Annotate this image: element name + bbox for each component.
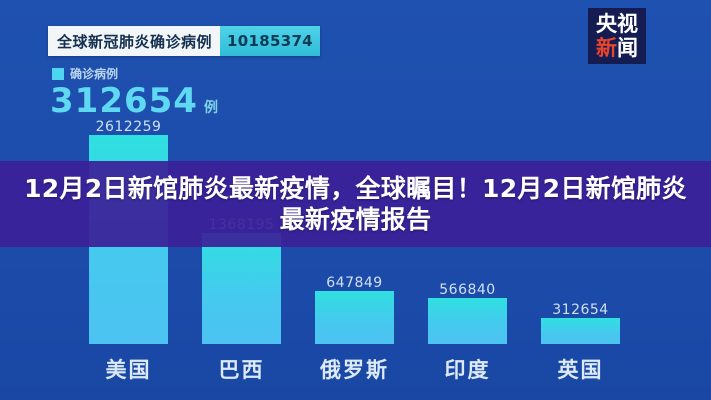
chart-title-pill: 全球新冠肺炎确诊病例 10185374 (48, 26, 320, 56)
logo-char-xin: 新 (596, 38, 617, 59)
bar-label-0: 美国 (69, 354, 188, 384)
bar-value-4: 312654 (541, 302, 620, 318)
chart-legend: 确诊病例 (52, 65, 118, 82)
bar-group-1: 1368195 巴西 (202, 233, 281, 344)
bar-label-2: 俄罗斯 (295, 354, 414, 384)
cctv-news-logo-icon: 央 视 新 闻 (588, 8, 646, 64)
legend-swatch-icon (52, 68, 64, 80)
legend-label: 确诊病例 (70, 65, 118, 82)
caption-overlay-band: 12月2日新馆肺炎最新疫情，全球瞩目！12月2日新馆肺炎最新疫情报告 (0, 161, 711, 247)
bar-1 (202, 233, 281, 344)
bar-label-1: 巴西 (182, 354, 301, 384)
infographic-canvas: 2612259 美国 1368195 巴西 647849 俄罗斯 566840 … (0, 0, 711, 400)
global-total-value: 10185374 (220, 26, 320, 56)
logo-char-wen: 闻 (617, 38, 638, 59)
bar-group-2: 647849 俄罗斯 (315, 291, 394, 344)
bar-group-3: 566840 印度 (428, 298, 507, 344)
highlight-number: 312654 例 (50, 84, 218, 118)
logo-char-shi: 视 (617, 14, 638, 35)
bar-value-0: 2612259 (89, 119, 168, 135)
caption-headline: 12月2日新馆肺炎最新疫情，全球瞩目！12月2日新馆肺炎最新疫情报告 (22, 173, 689, 236)
bar-group-4: 312654 英国 (541, 318, 620, 344)
highlight-number-unit: 例 (204, 97, 218, 117)
bar-label-4: 英国 (521, 354, 640, 384)
bar-2 (315, 291, 394, 344)
highlight-number-value: 312654 (50, 84, 198, 118)
bar-3 (428, 298, 507, 344)
bar-value-2: 647849 (315, 275, 394, 291)
bar-label-3: 印度 (408, 354, 527, 384)
bar-4 (541, 318, 620, 344)
logo-row-bottom: 新 闻 (596, 38, 638, 59)
logo-row-top: 央 视 (596, 14, 638, 35)
chart-title-text: 全球新冠肺炎确诊病例 (48, 26, 220, 56)
bar-value-3: 566840 (428, 282, 507, 298)
logo-char-yang: 央 (596, 14, 617, 35)
